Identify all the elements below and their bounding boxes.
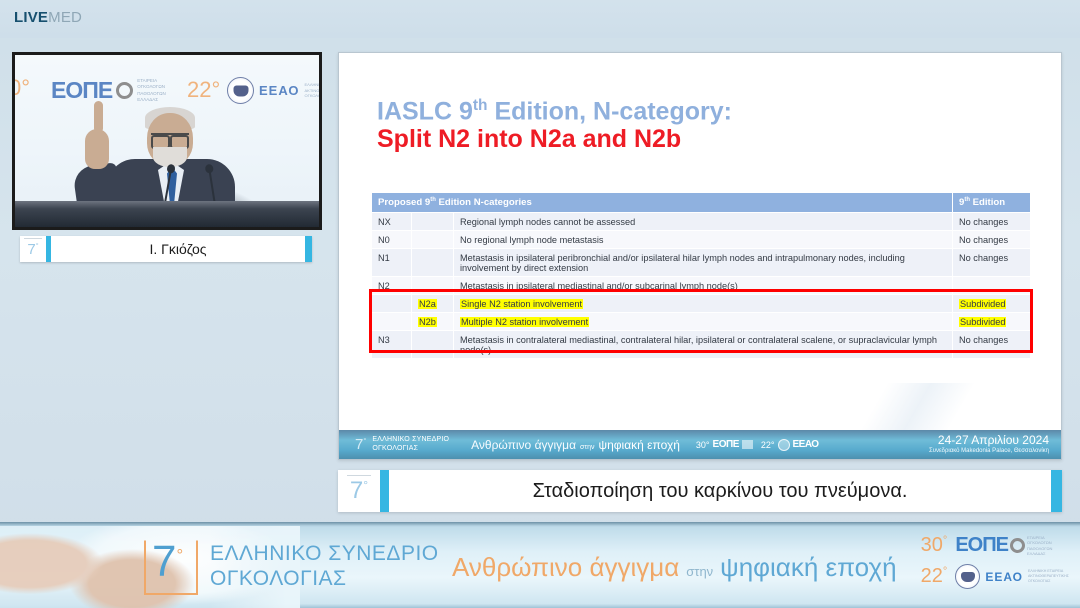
presentation-slide[interactable]: IASLC 9th Edition, N-category: Split N2 …	[338, 52, 1062, 460]
slide-footer-logo22-text: 22°	[761, 440, 775, 450]
caption-badge-number: 7	[350, 477, 363, 504]
table-body: NXRegional lymph nodes cannot be assesse…	[372, 213, 1031, 359]
banner-tagline-small: στην	[686, 564, 713, 579]
highlighted-text: Subdivided	[959, 299, 1006, 309]
table-header-left-a: Proposed 9	[378, 197, 430, 208]
cell-subcode	[412, 277, 454, 295]
livemed-logo[interactable]: LIVEMED	[14, 9, 82, 26]
cell-code: N2	[372, 277, 412, 295]
table-row: N2Metastasis in ipsilateral mediastinal …	[372, 277, 1031, 295]
crab-seal-icon-footer	[778, 439, 790, 451]
caption-badge-degree: °	[363, 478, 368, 492]
backdrop-eope-subtext: ΕΤΑΙΡΕΙΑ ΟΓΚΟΛΟΓΩΝ ΠΑΘΟΛΟΓΩΝ ΕΛΛΑΔΑΣ	[137, 78, 179, 102]
banner-logo22: 22°	[911, 565, 947, 588]
cell-code	[372, 313, 412, 331]
livemed-player-page: LIVEMED 0° ΕΟΠΕ ΕΤΑΙΡΕΙΑ ΟΓΚΟΛΟΓΩΝ ΠΑΘΟΛ…	[0, 0, 1080, 608]
banner-badge-number: 7	[152, 537, 176, 586]
cell-subcode	[412, 213, 454, 231]
slide-title-line1-sup: th	[473, 97, 488, 114]
slide-footer-logo30: 30° ΕΟΠΕ	[696, 439, 753, 450]
n-category-table: Proposed 9th Edition N-categories 9th Ed…	[371, 192, 1031, 359]
cell-code: N1	[372, 249, 412, 277]
table-row: N2bMultiple N2 station involvementSubdiv…	[372, 313, 1031, 331]
banner-eope-row: 30° ΕΟΠΕ ΕΤΑΙΡΕΙΑ ΟΓΚΟΛΟΓΩΝ ΠΑΘΟΛΟΓΩΝ ΕΛ…	[911, 534, 1068, 557]
backdrop-eope-word: ΕΟΠΕ	[51, 77, 112, 104]
slide-footer-badge-degree: °	[363, 436, 366, 445]
slide-title-line1: IASLC 9th Edition, N-category:	[377, 97, 732, 125]
highlighted-text: N2b	[418, 317, 437, 327]
crown-icon-caption	[347, 475, 371, 480]
banner-eeao-logo: ΕΕΑΟ ΕΛΛΗΝΙΚΗ ΕΤΑΙΡΕΙΑ ΑΚΤΙΝΟΘΕΡΑΠΕΥΤΙΚΗ…	[955, 564, 1068, 589]
caption-badge: 7°	[338, 470, 380, 512]
table-header-left: Proposed 9th Edition N-categories	[372, 193, 953, 213]
slide-footer-logo30-text: 30°	[696, 440, 710, 450]
banner-logo22-degree: °	[943, 565, 947, 577]
cell-description: Multiple N2 station involvement	[454, 313, 953, 331]
cell-edition-status: No changes	[953, 213, 1031, 231]
slide-footer-logos: 30° ΕΟΠΕ 22° ΕΕΑΟ	[696, 439, 819, 451]
cell-description: Single N2 station involvement	[454, 295, 953, 313]
speaker-nameplate: 7° Ι. Γκιόζος	[20, 236, 312, 262]
caption-text: Σταδιοποίηση του καρκίνου του πνεύμονα.	[389, 470, 1051, 512]
highlighted-text: Multiple N2 station involvement	[460, 317, 589, 327]
crab-seal-icon	[227, 77, 254, 104]
slide-footer-eeao-word: ΕΕΑΟ	[793, 439, 819, 450]
cell-edition-status: Subdivided	[953, 313, 1031, 331]
banner-badge-degree: °	[176, 545, 183, 564]
cell-edition-status	[953, 277, 1031, 295]
backdrop-eeao-logo: ΕΕΑΟ ΕΛΛΗΝΙΚΗ ΕΤΑΙΡΕΙΑ ΑΚΤΙΝΟΘΕΡΑΠΕΥΤΙΚΗ…	[227, 77, 322, 104]
table-row: NXRegional lymph nodes cannot be assesse…	[372, 213, 1031, 231]
table-row: N3Metastasis in contralateral mediastina…	[372, 331, 1031, 359]
slide-footer-tagline: Ανθρώπινο άγγιγμα στην ψηφιακή εποχή	[471, 438, 680, 452]
highlighted-text: N2a	[418, 299, 437, 309]
banner-eeao-word: ΕΕΑΟ	[985, 570, 1023, 584]
table-row: N0No regional lymph node metastasisNo ch…	[372, 231, 1031, 249]
slide-footer-eope-word: ΕΟΠΕ	[713, 439, 739, 450]
session-caption-plate: 7° Σταδιοποίηση του καρκίνου του πνεύμον…	[338, 470, 1062, 512]
congress-seven-icon-caption: 7°	[350, 479, 368, 503]
slide-footer-tagline-orange: Ανθρώπινο άγγιγμα	[471, 438, 576, 452]
cell-edition-status: No changes	[953, 231, 1031, 249]
logo-med-text: MED	[48, 9, 82, 26]
speaker-video-panel[interactable]: 0° ΕΟΠΕ ΕΤΑΙΡΕΙΑ ΟΓΚΟΛΟΓΩΝ ΠΑΘΟΛΟΓΩΝ ΕΛΛ…	[12, 52, 322, 230]
table-header: Proposed 9th Edition N-categories 9th Ed…	[372, 193, 1031, 213]
banner-logo30-number: 30	[921, 534, 943, 556]
slide-footer-logo22: 22° ΕΕΑΟ	[761, 439, 819, 451]
banner-logo30-degree: °	[943, 534, 947, 546]
table-header-row: Proposed 9th Edition N-categories 9th Ed…	[372, 193, 1031, 213]
nameplate-badge-number: 7	[27, 241, 35, 258]
cell-edition-status: No changes	[953, 331, 1031, 359]
slide-footer-date-block: 24-27 Απριλίου 2024 Συνεδριακό Makedonia…	[929, 434, 1049, 455]
backdrop-eeao-subtext: ΕΛΛΗΝΙΚΗ ΕΤΑΙΡΕΙΑ ΑΚΤΙΝΟΘΕΡΑΠΕΥΤΙΚΗΣ ΟΓΚ…	[305, 82, 323, 99]
speaker-hand	[85, 129, 109, 169]
table-header-right-b: Edition	[970, 197, 1005, 208]
banner-eope-word: ΕΟΠΕ	[955, 534, 1008, 557]
slide-footer-venue: Συνεδριακό Makedonia Palace, Θεσσαλονίκη	[929, 448, 1049, 455]
banner-tagline-orange: Ανθρώπινο άγγιγμα	[452, 552, 679, 583]
banner-logo-stack: 30° ΕΟΠΕ ΕΤΑΙΡΕΙΑ ΟΓΚΟΛΟΓΩΝ ΠΑΘΟΛΟΓΩΝ ΕΛ…	[911, 534, 1068, 589]
cell-code: NX	[372, 213, 412, 231]
caption-accent-bar	[380, 470, 389, 512]
nameplate-badge: 7°	[20, 236, 46, 262]
crab-seal-icon-banner	[955, 564, 980, 589]
slide-footer-tagline-blue: ψηφιακή εποχή	[599, 438, 680, 452]
cell-subcode	[412, 331, 454, 359]
top-brand-bar: LIVEMED	[0, 0, 1080, 38]
cell-subcode	[412, 231, 454, 249]
logo-live-text: LIVE	[14, 9, 48, 26]
cell-code	[372, 295, 412, 313]
backdrop-eope-logo: ΕΟΠΕ ΕΤΑΙΡΕΙΑ ΟΓΚΟΛΟΓΩΝ ΠΑΘΟΛΟΓΩΝ ΕΛΛΑΔΑ…	[51, 77, 179, 104]
banner-eeao-row: 22° ΕΕΑΟ ΕΛΛΗΝΙΚΗ ΕΤΑΙΡΕΙΑ ΑΚΤΙΝΟΘΕΡΑΠΕΥ…	[911, 564, 1068, 589]
table-header-right: 9th Edition	[953, 193, 1031, 213]
banner-congress-title: ΕΛΛΗΝΙΚΟ ΣΥΝΕΔΡΙΟ ΟΓΚΟΛΟΓΙΑΣ	[210, 542, 439, 592]
table-header-left-b: Edition N-categories	[436, 197, 532, 208]
cell-description: Metastasis in contralateral mediastinal,…	[454, 331, 953, 359]
cell-subcode: N2a	[412, 295, 454, 313]
slide-footer-tagline-small: στην	[580, 444, 594, 451]
crown-icon	[24, 238, 41, 243]
bottom-congress-banner: 7° ΕΛΛΗΝΙΚΟ ΣΥΝΕΔΡΙΟ ΟΓΚΟΛΟΓΙΑΣ Ανθρώπιν…	[0, 522, 1080, 608]
highlighted-text: Subdivided	[959, 317, 1006, 327]
banner-seven-icon: 7°	[152, 540, 183, 584]
cell-edition-status: Subdivided	[953, 295, 1031, 313]
banner-eeao-subtext: ΕΛΛΗΝΙΚΗ ΕΤΑΙΡΕΙΑ ΑΚΤΙΝΟΘΕΡΑΠΕΥΤΙΚΗΣ ΟΓΚ…	[1028, 569, 1068, 584]
cell-subcode: N2b	[412, 313, 454, 331]
cell-description: Metastasis in ipsilateral peribronchial …	[454, 249, 953, 277]
backdrop-degree-left: 0°	[12, 75, 30, 101]
caption-tail-bar	[1051, 470, 1062, 512]
backdrop-degree-right: 22°	[187, 77, 220, 103]
slide-title-line2: Split N2 into N2a and N2b	[377, 125, 732, 153]
banner-tagline: Ανθρώπινο άγγιγμα στην ψηφιακή εποχή	[452, 552, 897, 583]
banner-eope-logo: ΕΟΠΕ ΕΤΑΙΡΕΙΑ ΟΓΚΟΛΟΓΩΝ ΠΑΘΟΛΟΓΩΝ ΕΛΛΑΔΑ…	[955, 534, 1061, 557]
speaker-name-text: Ι. Γκιόζος	[51, 236, 305, 262]
backdrop-eeao-word: ΕΕΑΟ	[259, 83, 300, 98]
highlighted-text: Single N2 station involvement	[460, 299, 583, 309]
slide-title-line1-b: Edition, N-category:	[488, 97, 732, 125]
spiral-icon-banner	[1010, 538, 1025, 553]
table-row: N2aSingle N2 station involvementSubdivid…	[372, 295, 1031, 313]
slide-title: IASLC 9th Edition, N-category: Split N2 …	[377, 97, 732, 153]
cell-subcode	[412, 249, 454, 277]
slide-footer-seven-icon: 7°	[355, 437, 366, 452]
congress-seven-icon: 7°	[27, 242, 38, 257]
banner-logo30: 30°	[911, 534, 947, 557]
banner-congress-line1: ΕΛΛΗΝΙΚΟ ΣΥΝΕΔΡΙΟ	[210, 542, 439, 567]
slide-footer-congress-line2: ΟΓΚΟΛΟΓΙΑΣ	[372, 445, 449, 454]
slide-title-line1-a: IASLC 9	[377, 97, 473, 125]
speaker-raised-finger	[94, 101, 103, 133]
banner-eope-subtext: ΕΤΑΙΡΕΙΑ ΟΓΚΟΛΟΓΩΝ ΠΑΘΟΛΟΓΩΝ ΕΛΛΑΔΑΣ	[1027, 535, 1061, 557]
cell-code: N0	[372, 231, 412, 249]
cell-code: N3	[372, 331, 412, 359]
banner-congress-line2: ΟΓΚΟΛΟΓΙΑΣ	[210, 567, 439, 592]
cell-description: Metastasis in ipsilateral mediastinal an…	[454, 277, 953, 295]
video-frame: 0° ΕΟΠΕ ΕΤΑΙΡΕΙΑ ΟΓΚΟΛΟΓΩΝ ΠΑΘΟΛΟΓΩΝ ΕΛΛ…	[15, 55, 319, 227]
eope-mark-icon	[742, 440, 753, 449]
nameplate-tail-bar	[305, 236, 312, 262]
table-row: N1Metastasis in ipsilateral peribronchia…	[372, 249, 1031, 277]
slide-footer-congress: ΕΛΛΗΝΙΚΟ ΣΥΝΕΔΡΙΟ ΟΓΚΟΛΟΓΙΑΣ	[372, 436, 449, 454]
slide-footer-date: 24-27 Απριλίου 2024	[929, 434, 1049, 448]
slide-footer-congress-line1: ΕΛΛΗΝΙΚΟ ΣΥΝΕΔΡΙΟ	[372, 436, 449, 445]
glasses-icon	[151, 133, 189, 144]
cell-description: No regional lymph node metastasis	[454, 231, 953, 249]
slide-footer-bar: 7° ΕΛΛΗΝΙΚΟ ΣΥΝΕΔΡΙΟ ΟΓΚΟΛΟΓΙΑΣ Ανθρώπιν…	[339, 430, 1061, 459]
banner-tagline-blue: ψηφιακή εποχή	[720, 552, 896, 583]
podium	[15, 201, 319, 227]
cell-edition-status: No changes	[953, 249, 1031, 277]
spiral-icon	[116, 82, 133, 99]
banner-logo22-number: 22	[921, 565, 943, 587]
cell-description: Regional lymph nodes cannot be assessed	[454, 213, 953, 231]
